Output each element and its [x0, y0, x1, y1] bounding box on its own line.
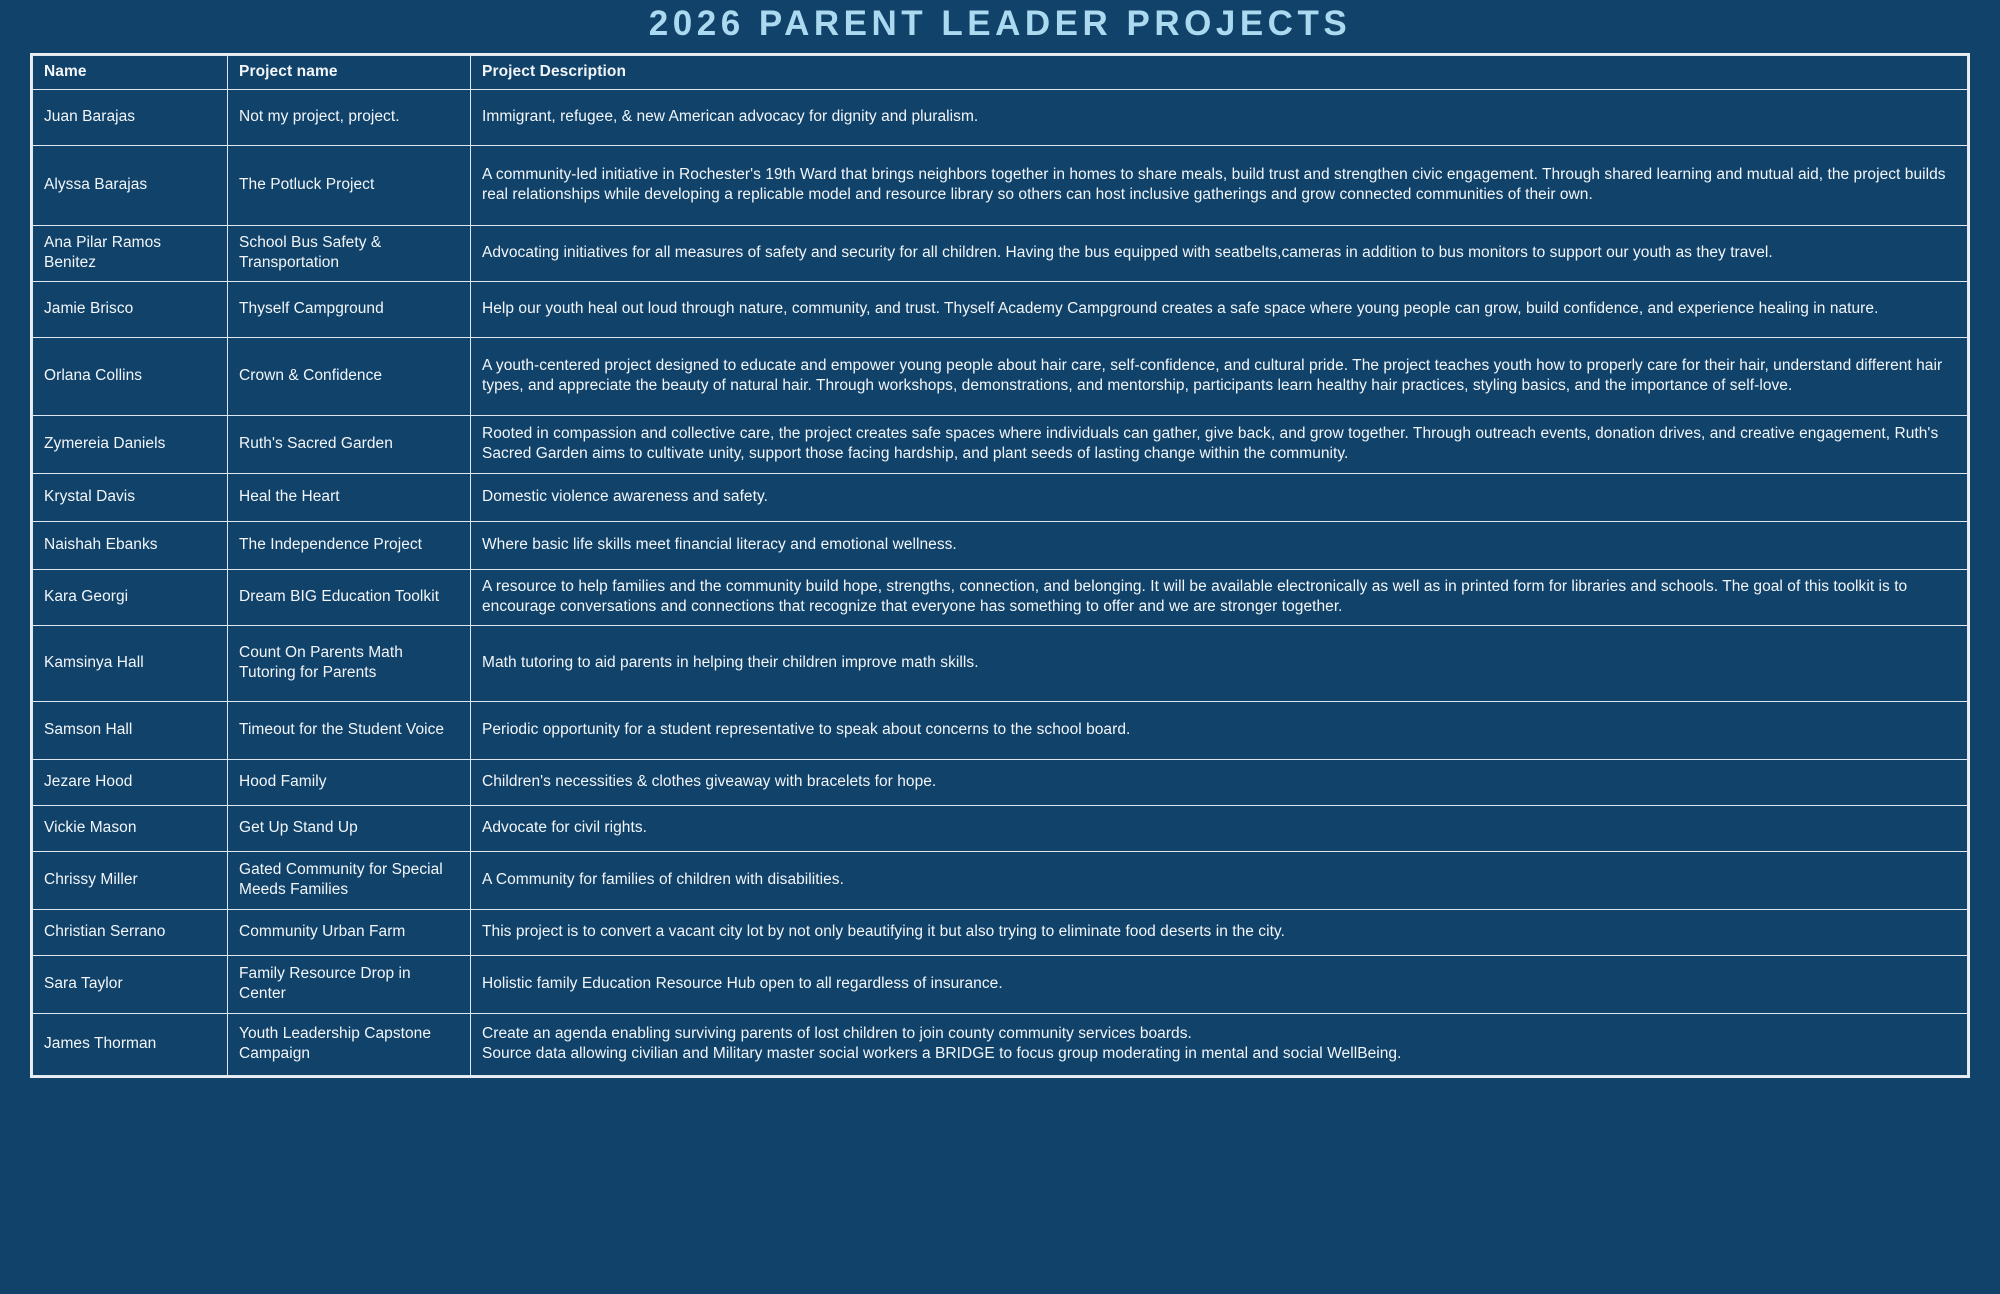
- cell-name: Juan Barajas: [33, 89, 228, 145]
- cell-name: Kara Georgi: [33, 569, 228, 625]
- table-row: Kamsinya HallCount On Parents Math Tutor…: [33, 625, 1968, 701]
- cell-project-description: Advocate for civil rights.: [471, 805, 1968, 851]
- cell-name: Samson Hall: [33, 701, 228, 759]
- cell-name: Vickie Mason: [33, 805, 228, 851]
- cell-project-name: The Potluck Project: [228, 145, 471, 225]
- cell-project-description: Holistic family Education Resource Hub o…: [471, 955, 1968, 1013]
- cell-name: Krystal Davis: [33, 473, 228, 521]
- cell-project-name: Dream BIG Education Toolkit: [228, 569, 471, 625]
- cell-name: Naishah Ebanks: [33, 521, 228, 569]
- cell-project-description: A youth-centered project designed to edu…: [471, 337, 1968, 415]
- cell-name: Jamie Brisco: [33, 281, 228, 337]
- cell-project-name: Community Urban Farm: [228, 909, 471, 955]
- table-header-row: Name Project name Project Description: [33, 55, 1968, 89]
- cell-name: Kamsinya Hall: [33, 625, 228, 701]
- cell-project-description: Immigrant, refugee, & new American advoc…: [471, 89, 1968, 145]
- cell-project-name: Get Up Stand Up: [228, 805, 471, 851]
- cell-project-name: Youth Leadership Capstone Campaign: [228, 1013, 471, 1075]
- table-row: Zymereia DanielsRuth's Sacred GardenRoot…: [33, 415, 1968, 473]
- cell-project-description: Where basic life skills meet financial l…: [471, 521, 1968, 569]
- table-row: Samson HallTimeout for the Student Voice…: [33, 701, 1968, 759]
- cell-project-description: A resource to help families and the comm…: [471, 569, 1968, 625]
- table-row: Chrissy MillerGated Community for Specia…: [33, 851, 1968, 909]
- cell-project-description: Rooted in compassion and collective care…: [471, 415, 1968, 473]
- cell-name: Jezare Hood: [33, 759, 228, 805]
- table-body: Juan BarajasNot my project, project.Immi…: [33, 89, 1968, 1075]
- table-row: Alyssa BarajasThe Potluck ProjectA commu…: [33, 145, 1968, 225]
- cell-project-name: Not my project, project.: [228, 89, 471, 145]
- cell-name: Christian Serrano: [33, 909, 228, 955]
- projects-table-container: Name Project name Project Description Ju…: [30, 53, 1970, 1078]
- cell-name: James Thorman: [33, 1013, 228, 1075]
- page-title: 2026 PARENT LEADER PROJECTS: [0, 0, 2000, 53]
- table-row: Jezare HoodHood FamilyChildren's necessi…: [33, 759, 1968, 805]
- cell-name: Zymereia Daniels: [33, 415, 228, 473]
- cell-project-name: The Independence Project: [228, 521, 471, 569]
- cell-project-description: Help our youth heal out loud through nat…: [471, 281, 1968, 337]
- cell-project-description: Domestic violence awareness and safety.: [471, 473, 1968, 521]
- cell-project-description: Math tutoring to aid parents in helping …: [471, 625, 1968, 701]
- table-row: James ThormanYouth Leadership Capstone C…: [33, 1013, 1968, 1075]
- cell-project-name: School Bus Safety & Transportation: [228, 225, 471, 281]
- cell-name: Sara Taylor: [33, 955, 228, 1013]
- cell-name: Alyssa Barajas: [33, 145, 228, 225]
- table-row: Christian SerranoCommunity Urban FarmThi…: [33, 909, 1968, 955]
- cell-project-name: Crown & Confidence: [228, 337, 471, 415]
- cell-project-description: A community-led initiative in Rochester'…: [471, 145, 1968, 225]
- cell-project-name: Ruth's Sacred Garden: [228, 415, 471, 473]
- page-root: 2026 PARENT LEADER PROJECTS Name Project…: [0, 0, 2000, 1294]
- cell-project-name: Family Resource Drop in Center: [228, 955, 471, 1013]
- cell-name: Orlana Collins: [33, 337, 228, 415]
- table-header: Name Project name Project Description: [33, 55, 1968, 89]
- table-row: Sara TaylorFamily Resource Drop in Cente…: [33, 955, 1968, 1013]
- table-row: Vickie MasonGet Up Stand UpAdvocate for …: [33, 805, 1968, 851]
- table-row: Juan BarajasNot my project, project.Immi…: [33, 89, 1968, 145]
- cell-project-description: This project is to convert a vacant city…: [471, 909, 1968, 955]
- cell-project-name: Heal the Heart: [228, 473, 471, 521]
- cell-project-name: Gated Community for Special Meeds Famili…: [228, 851, 471, 909]
- cell-project-description: Periodic opportunity for a student repre…: [471, 701, 1968, 759]
- table-row: Jamie BriscoThyself CampgroundHelp our y…: [33, 281, 1968, 337]
- cell-project-description: Children's necessities & clothes giveawa…: [471, 759, 1968, 805]
- cell-project-name: Timeout for the Student Voice: [228, 701, 471, 759]
- column-header-project-description: Project Description: [471, 55, 1968, 89]
- cell-project-name: Count On Parents Math Tutoring for Paren…: [228, 625, 471, 701]
- cell-project-description: Advocating initiatives for all measures …: [471, 225, 1968, 281]
- cell-project-description: Create an agenda enabling surviving pare…: [471, 1013, 1968, 1075]
- table-row: Naishah EbanksThe Independence ProjectWh…: [33, 521, 1968, 569]
- table-row: Krystal DavisHeal the HeartDomestic viol…: [33, 473, 1968, 521]
- table-row: Kara GeorgiDream BIG Education ToolkitA …: [33, 569, 1968, 625]
- table-row: Ana Pilar Ramos BenitezSchool Bus Safety…: [33, 225, 1968, 281]
- cell-project-description: A Community for families of children wit…: [471, 851, 1968, 909]
- cell-project-name: Hood Family: [228, 759, 471, 805]
- projects-table: Name Project name Project Description Ju…: [32, 55, 1968, 1076]
- cell-name: Chrissy Miller: [33, 851, 228, 909]
- column-header-project-name: Project name: [228, 55, 471, 89]
- cell-project-name: Thyself Campground: [228, 281, 471, 337]
- cell-name: Ana Pilar Ramos Benitez: [33, 225, 228, 281]
- column-header-name: Name: [33, 55, 228, 89]
- table-row: Orlana CollinsCrown & ConfidenceA youth-…: [33, 337, 1968, 415]
